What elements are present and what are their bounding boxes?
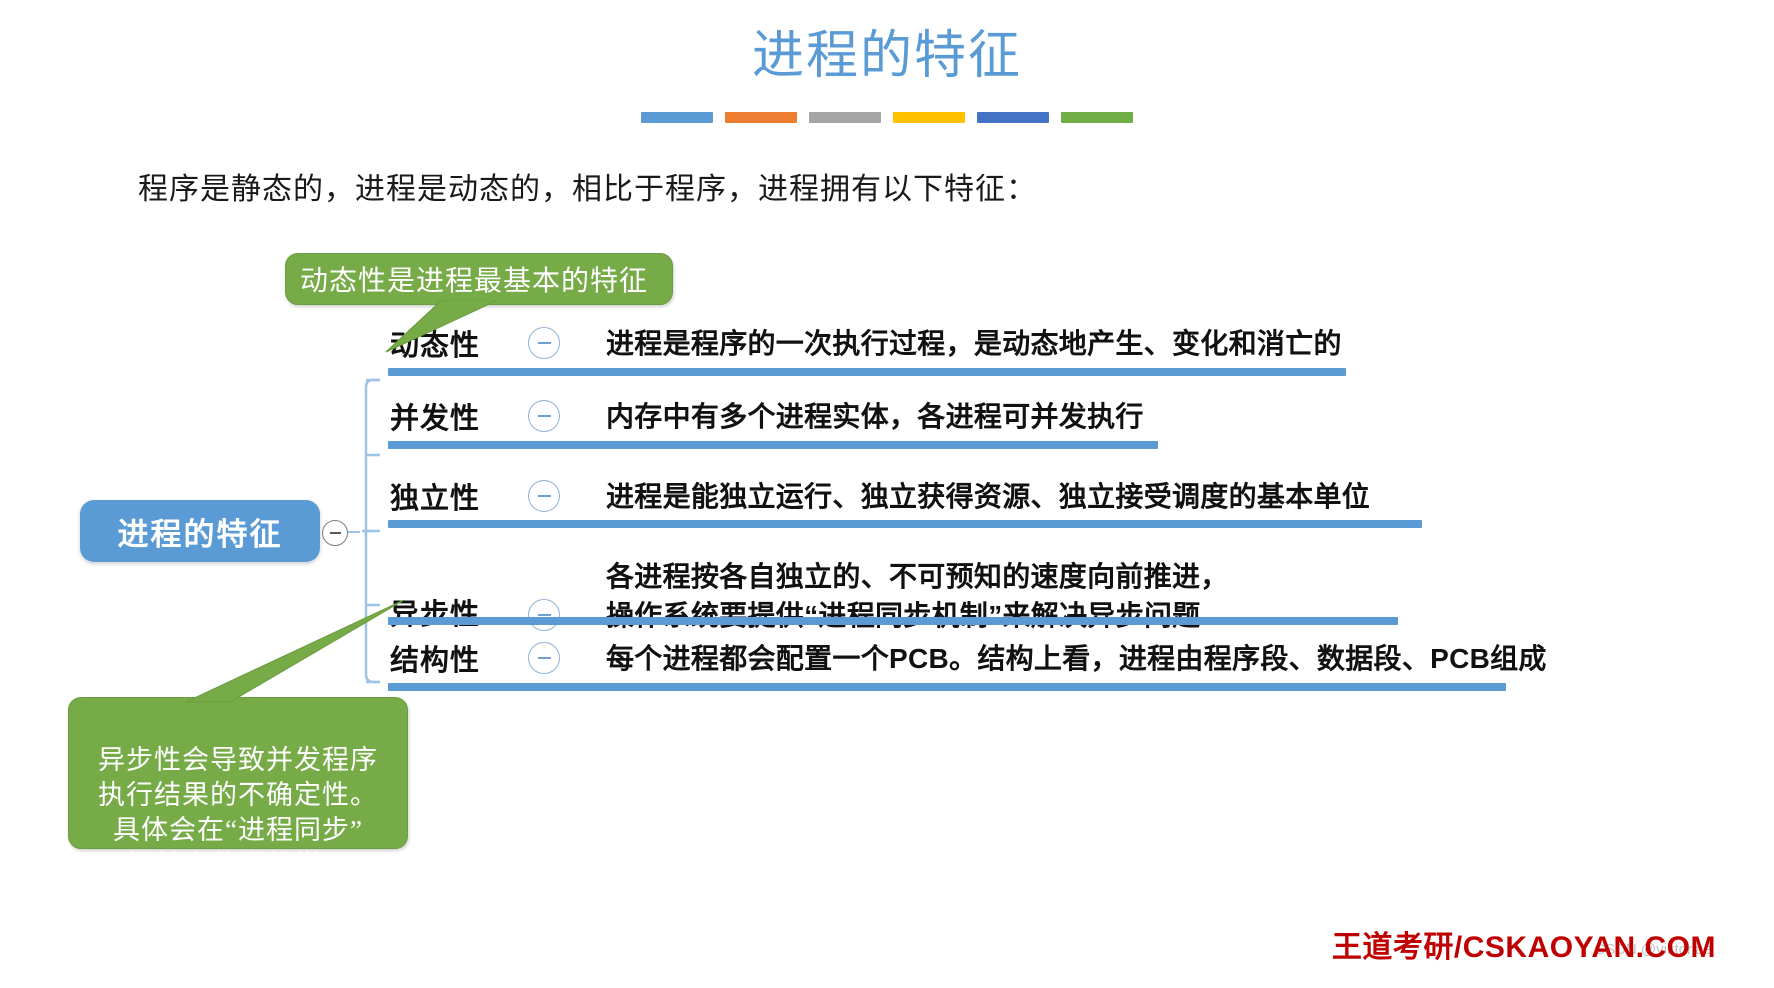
row-text: 进程是程序的一次执行过程，是动态地产生、变化和消亡的 xyxy=(606,324,1342,363)
row-label: 异步性 xyxy=(390,591,510,635)
row-label: 结构性 xyxy=(390,637,510,679)
mindmap-root-label: 进程的特征 xyxy=(118,509,283,554)
lead-paragraph: 程序是静态的，进程是动态的，相比于程序，进程拥有以下特征： xyxy=(138,170,1037,210)
page-title: 进程的特征 xyxy=(0,26,1774,88)
collapse-minus-icon[interactable] xyxy=(528,327,560,359)
callout-bottom-text: 异步性会导致并发程序 执行结果的不确定性。 具体会在“进程同步” 相关小节进行学… xyxy=(98,745,378,880)
rule-bar-6 xyxy=(1061,112,1133,123)
rule-bar-4 xyxy=(893,112,965,123)
row-underline xyxy=(388,520,1422,528)
row-underline xyxy=(388,441,1158,449)
mindmap-root-node[interactable]: 进程的特征 xyxy=(80,500,320,562)
rule-bar-1 xyxy=(641,112,713,123)
brand-watermark: 王道考研/CSKAOYAN.COM xyxy=(1332,922,1716,966)
callout-top-text: 动态性是进程最基本的特征 xyxy=(300,259,648,299)
collapse-minus-icon[interactable] xyxy=(528,642,560,674)
row-text: 内存中有多个进程实体，各进程可并发执行 xyxy=(606,397,1144,436)
mindmap-row[interactable]: 独立性 进程是能独立运行、独立获得资源、独立接受调度的基本单位 xyxy=(390,475,1660,517)
row-text: 进程是能独立运行、独立获得资源、独立接受调度的基本单位 xyxy=(606,477,1370,516)
rule-bar-3 xyxy=(809,112,881,123)
row-underline xyxy=(388,683,1506,691)
root-collapse-minus-icon[interactable] xyxy=(322,520,348,546)
row-label: 动态性 xyxy=(390,322,510,364)
row-underline xyxy=(388,368,1346,376)
callout-async-note: 异步性会导致并发程序 执行结果的不确定性。 具体会在“进程同步” 相关小节进行学… xyxy=(68,697,408,849)
rule-bar-5 xyxy=(977,112,1049,123)
mindmap-row[interactable]: 并发性 内存中有多个进程实体，各进程可并发执行 xyxy=(390,395,1660,437)
collapse-minus-icon[interactable] xyxy=(528,599,560,631)
row-label: 并发性 xyxy=(390,395,510,437)
row-text: 每个进程都会配置一个PCB。结构上看，进程由程序段、数据段、PCB组成 xyxy=(606,639,1547,678)
title-rule-bars xyxy=(0,112,1774,123)
mindmap-row[interactable]: 结构性 每个进程都会配置一个PCB。结构上看，进程由程序段、数据段、PCB组成 xyxy=(390,637,1660,679)
mindmap-row[interactable]: 动态性 进程是程序的一次执行过程，是动态地产生、变化和消亡的 xyxy=(390,322,1660,364)
collapse-minus-icon[interactable] xyxy=(528,480,560,512)
slide-canvas: 进程的特征 程序是静态的，进程是动态的，相比于程序，进程拥有以下特征： 进程的特 xyxy=(0,0,1774,988)
row-underline xyxy=(388,617,1398,625)
root-connector-stub xyxy=(346,531,360,533)
row-label: 独立性 xyxy=(390,475,510,517)
rule-bar-2 xyxy=(725,112,797,123)
callout-dynamic-note: 动态性是进程最基本的特征 xyxy=(285,253,673,305)
collapse-minus-icon[interactable] xyxy=(528,400,560,432)
mindmap: 进程的特征 动态性 进程是程序的一次执行过程，是动态地产生、变化和消亡的 并发性… xyxy=(0,300,1774,730)
